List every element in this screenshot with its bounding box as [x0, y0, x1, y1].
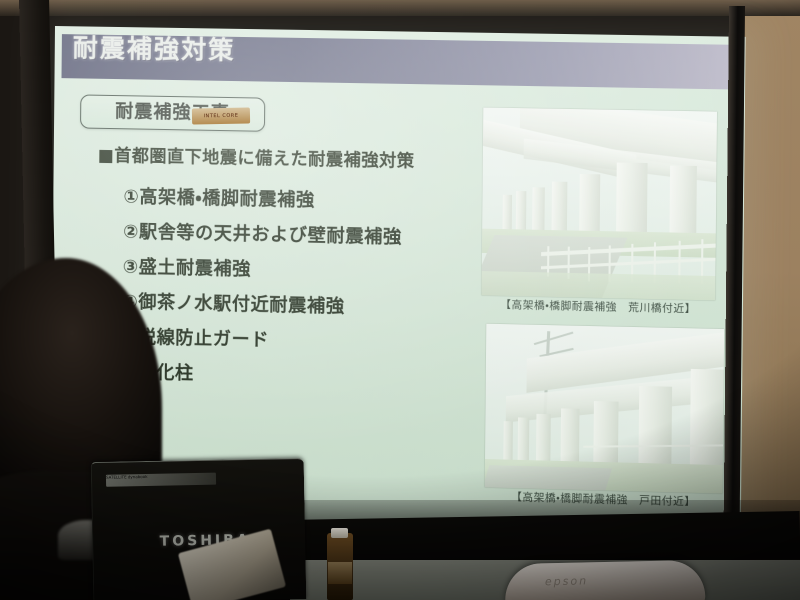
list-item: ①高架橋・橋脚耐震補強 — [123, 179, 402, 220]
slide-heading: ■首都圏直下地震に備えた耐震補強対策 — [98, 145, 415, 173]
slide-bullet-list: ①高架橋・橋脚耐震補強 ②駅舎等の天井および壁耐震補強 ③盛土耐震補強 ④御茶ノ… — [122, 179, 403, 396]
list-item: ③盛土耐震補強 — [123, 249, 402, 290]
projector-brand-label: epson — [545, 574, 588, 588]
bottle-cap — [331, 528, 348, 538]
photo-haze — [485, 324, 724, 494]
photo-haze — [481, 107, 717, 300]
room-wall-top — [0, 0, 800, 16]
list-item: ②駅舎等の天井および壁耐震補強 — [123, 214, 402, 255]
projector-device: epson — [505, 560, 706, 600]
bottle-label — [328, 562, 352, 584]
list-item: ⑥電化柱 — [122, 355, 401, 397]
laptop-spec-sticker: INTEL CORE — [192, 107, 250, 124]
viaduct-pier-reinforcement-photo — [481, 107, 717, 300]
room-scene: 耐震補強対策 耐震補強工事 ■首都圏直下地震に備えた耐震補強対策 ①高架橋・橋脚… — [0, 0, 800, 600]
laptop-sticker: SATELLITE dynabook — [106, 473, 216, 487]
viaduct-underside-photo — [485, 324, 724, 494]
photo-caption: 【高架橋・橋脚耐震補強 荒川橋付近】 — [481, 297, 715, 316]
slide-title: 耐震補強対策 — [73, 33, 236, 66]
